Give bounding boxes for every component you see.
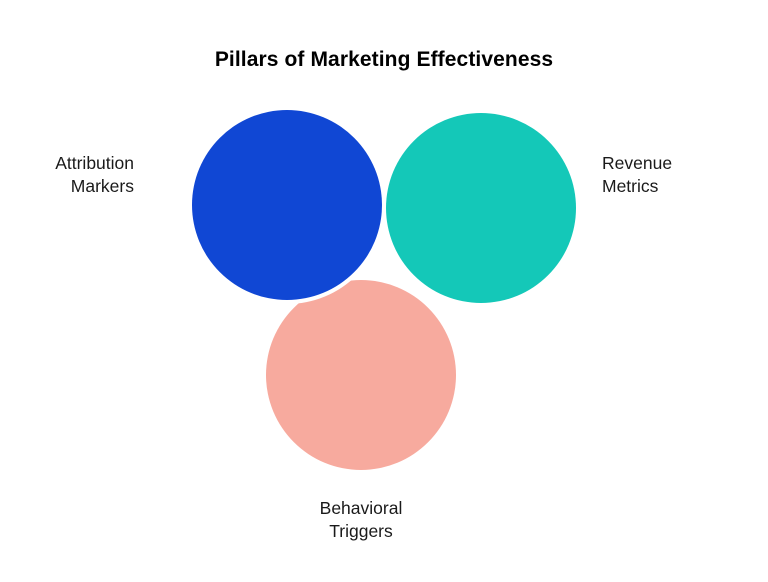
venn-label-attribution: Attribution Markers <box>8 152 134 198</box>
venn-circle-attribution <box>192 110 382 300</box>
venn-circle-behavioral <box>266 280 456 470</box>
venn-diagram-figure: Pillars of Marketing Effectiveness <box>0 0 768 582</box>
venn-label-revenue: Revenue Metrics <box>602 152 752 198</box>
venn-circles-canvas <box>0 0 768 582</box>
venn-circle-revenue <box>386 113 576 303</box>
venn-label-behavioral: Behavioral Triggers <box>281 497 441 543</box>
